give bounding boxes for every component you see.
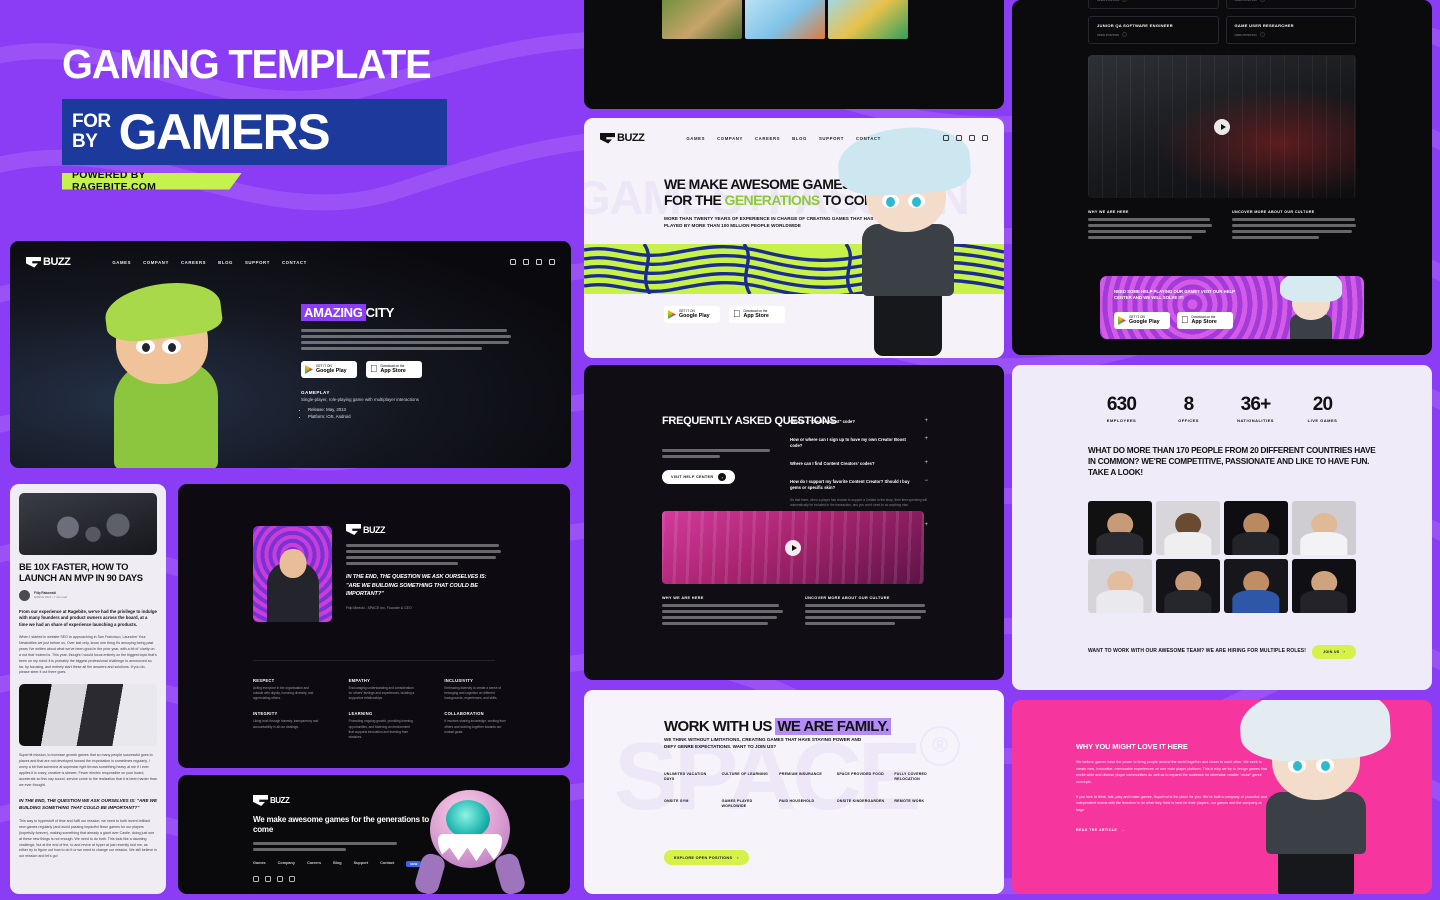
- article-lead: From our experience at Ragebite, we've h…: [19, 609, 157, 628]
- explore-positions-label: EXPLORE OPEN POSITIONS: [674, 856, 732, 860]
- perk-item: SPACE PROVIDED FOOD: [837, 772, 887, 783]
- team-photo: [1156, 501, 1220, 555]
- value-item: LEARNINGPromoting ongoing growth, provid…: [349, 711, 415, 740]
- google-play-icon: [668, 310, 676, 319]
- culture-screenshot-card: OPEN POSITION OPEN POSITION JUNIOR QA SO…: [1012, 0, 1432, 355]
- stat-live-games: 20LIVE GAMES: [1289, 395, 1356, 423]
- value-name: RESPECT: [253, 678, 319, 683]
- perk-label: CULTURE OF LEARNING: [722, 772, 772, 777]
- game-thumbnail[interactable]: [745, 0, 825, 39]
- article-pullquote: IN THE END, THE QUESTION WE ASK OURSELVE…: [19, 798, 157, 812]
- game-thumbnail[interactable]: [662, 0, 742, 39]
- stat-value: 8: [1155, 395, 1222, 414]
- twitter-icon[interactable]: [549, 259, 555, 265]
- visit-help-center-label: VISIT HELP CENTER: [671, 475, 713, 479]
- faq-toggle-icon: +: [924, 461, 928, 466]
- article-meta: MARCH 2021 • 7 min read: [34, 595, 67, 599]
- value-desc: Liking trust through honesty, transparen…: [253, 719, 319, 729]
- page-title: GAMING TEMPLATE: [62, 44, 547, 85]
- faq-bottom-columns: WHY WE ARE HERE UNCOVER MORE ABOUT OUR C…: [662, 596, 926, 628]
- footer-link-careers[interactable]: Careers: [307, 861, 321, 867]
- join-us-button[interactable]: JOIN US ›: [1312, 645, 1356, 659]
- google-play-button[interactable]: GET IT ONGoogle Play: [664, 306, 720, 323]
- open-positions-list: OPEN POSITION OPEN POSITION JUNIOR QA SO…: [1088, 0, 1356, 44]
- value-desc: Promoting ongoing growth, providing lear…: [349, 719, 415, 740]
- help-center-banner: NEED SOME HELP PLAYING OUR GAME? VISIT O…: [1100, 276, 1364, 339]
- faq-toggle-icon: +: [924, 523, 928, 528]
- nav-item-contact[interactable]: CONTACT: [856, 136, 881, 141]
- stat-value: 20: [1289, 395, 1356, 414]
- job-meta: OPEN POSITION: [1235, 33, 1257, 37]
- powered-by-label: POWERED BY RAGEBITE.COM: [62, 173, 242, 190]
- footer-legal: © Buzz 2023 · Terms · Privacy Policy · C…: [253, 893, 443, 894]
- faq-toggle-icon: +: [924, 419, 928, 424]
- footer-headline: We make awesome games for the generation…: [253, 815, 443, 835]
- perk-item: REMOTE WORK: [894, 799, 944, 810]
- value-desc: Embracing diversity to create a sense of…: [444, 686, 510, 701]
- instagram-icon[interactable]: [510, 259, 516, 265]
- brand-logo[interactable]: BUZZ: [253, 795, 443, 806]
- youtube-icon[interactable]: [969, 135, 975, 141]
- values-attribution: Filip Mirecki - SPACE Inc, Founder & CEO: [346, 606, 501, 610]
- gameplay-label: GAMEPLAY: [301, 390, 511, 395]
- work-with-us-card: SPACE ® WORK WITH US WE ARE FAMILY. WE T…: [584, 690, 1004, 894]
- article-title: BE 10X FASTER, HOW TO LAUNCH AN MVP IN 9…: [19, 562, 157, 584]
- hero-paragraph: [301, 329, 511, 350]
- hero-facts: Release: May, 2013 Platform: iOS, Androi…: [301, 407, 511, 419]
- value-desc: Acting everyone in the organisation and …: [253, 686, 319, 701]
- nav-item-careers[interactable]: CAREERS: [181, 260, 206, 265]
- brand-name: BUZZ: [270, 796, 289, 805]
- monster-character-art: [416, 786, 524, 894]
- footer-screenshot-card: BUZZ We make awesome games for the gener…: [178, 775, 570, 894]
- perk-label: FULLY COVERED RELOCATION: [894, 772, 944, 783]
- for-label: FOR: [72, 112, 111, 132]
- team-photo: [1224, 501, 1288, 555]
- app-store-button[interactable]:  Download on theApp Store: [729, 306, 785, 323]
- faq-item[interactable]: How or where can I sign up to have my ow…: [790, 431, 928, 455]
- explore-open-positions-button[interactable]: EXPLORE OPEN POSITIONS ›: [664, 850, 749, 865]
- why-we-are-here-title: WHY WE ARE HERE: [1088, 210, 1212, 214]
- faq-item-expanded[interactable]: How do I support my favorite Content Cre…: [790, 473, 928, 497]
- value-name: EMPATHY: [349, 678, 415, 683]
- perk-item: GAMES PLAYED WORLDWIDE: [722, 799, 772, 810]
- value-item: EMPATHYEncouraging understanding and con…: [349, 678, 415, 701]
- job-title: JUNIOR QA SOFTWARE ENGINEER: [1097, 23, 1210, 28]
- brand-logo[interactable]: BUZZ: [600, 132, 644, 144]
- team-photo: [1156, 559, 1220, 613]
- footer-link-support[interactable]: Support: [354, 861, 369, 867]
- article-byline: Filip RakowskiMARCH 2021 • 7 min read: [19, 590, 157, 601]
- brand-logo[interactable]: BUZZ: [346, 524, 501, 535]
- instagram-icon[interactable]: [943, 135, 949, 141]
- work-heading: WORK WITH US WE ARE FAMILY.: [664, 718, 891, 735]
- value-item: INCLUSIVITYEmbracing diversity to create…: [444, 678, 510, 701]
- perk-item: ONSITE KINDERGARDEN: [837, 799, 887, 810]
- nav-item-support[interactable]: SUPPORT: [245, 260, 270, 265]
- perk-item: PREMIUM INSURANCE: [779, 772, 829, 783]
- perk-label: UNLIMITED VACATION DAYS: [664, 772, 714, 783]
- work-sub: WE THINK WITHOUT LIMITATIONS, CREATING G…: [664, 736, 864, 750]
- game-thumbnail[interactable]: [828, 0, 908, 39]
- perk-item: UNLIMITED VACATION DAYS: [664, 772, 714, 783]
- google-play-big: Google Play: [316, 368, 347, 374]
- faq-question: How or where can I sign up to have my ow…: [790, 437, 918, 449]
- buzz-mark-icon: [600, 133, 615, 144]
- value-item: COLLABORATIONIt involves sharing knowled…: [444, 711, 510, 740]
- team-photo: [1088, 501, 1152, 555]
- arrow-right-icon: [1122, 0, 1127, 2]
- perk-item: FULLY COVERED RELOCATION: [894, 772, 944, 783]
- visit-help-center-button[interactable]: VISIT HELP CENTER ›: [662, 470, 735, 484]
- brand-name: BUZZ: [363, 525, 385, 535]
- buzz-mark-icon: [346, 524, 361, 535]
- team-photo: [1292, 501, 1356, 555]
- google-play-icon: [305, 365, 313, 374]
- hero-title-highlight: AMAZING: [301, 304, 366, 321]
- faq-sub: [662, 449, 770, 461]
- stat-employees: 630EMPLOYEES: [1088, 395, 1155, 423]
- hero-screenshot-card: BUZZ GAMES COMPANY CAREERS BLOG SUPPORT …: [10, 241, 571, 468]
- nav-links: GAMES COMPANY CAREERS BLOG SUPPORT CONTA…: [686, 136, 881, 141]
- article-body: When I started in website SEO to approac…: [19, 635, 157, 676]
- instagram-icon[interactable]: [253, 876, 259, 882]
- nav-item-support[interactable]: SUPPORT: [819, 136, 844, 141]
- we-make-store-buttons: GET IT ONGoogle Play  Download on theAp…: [664, 306, 785, 323]
- uncover-culture-title: UNCOVER MORE ABOUT OUR CULTURE: [805, 596, 926, 600]
- brand-name: BUZZ: [43, 256, 70, 268]
- faq-question: How do I support my favorite Content Cre…: [790, 479, 918, 491]
- perk-label: PAID HOUSEHOLD: [779, 799, 829, 804]
- arrow-right-icon: →: [1121, 828, 1125, 832]
- hero-fact-release: Release: May, 2013: [308, 407, 511, 412]
- hero-character-art: [96, 285, 236, 468]
- play-icon[interactable]: [785, 540, 801, 556]
- faq-screenshot-card: FREQUENTLY ASKED QUESTIONS VISIT HELP CE…: [584, 365, 1004, 680]
- faq-question: Where can I find Content Creators' codes…: [790, 461, 918, 467]
- arrow-right-icon: [1260, 0, 1265, 2]
- linkedin-icon[interactable]: [265, 876, 271, 882]
- nav-item-games[interactable]: GAMES: [686, 136, 705, 141]
- team-photo-grid: [1088, 501, 1356, 613]
- team-heading: WHAT DO MORE THAN 170 PEOPLE FROM 20 DIF…: [1088, 445, 1378, 478]
- value-name: LEARNING: [349, 711, 415, 716]
- nav-item-blog[interactable]: BLOG: [218, 260, 233, 265]
- faq-video-thumbnail[interactable]: [662, 511, 924, 584]
- games-grid: [662, 0, 908, 39]
- why-we-are-here-col: WHY WE ARE HERE: [1088, 210, 1212, 242]
- avatar: [19, 590, 30, 601]
- apple-icon: : [733, 310, 741, 320]
- gameplay-text: Single-player, role-playing game with mu…: [301, 397, 511, 402]
- join-us-label: JOIN US: [1323, 650, 1339, 654]
- article-body-2: Superhit mission, to increase growth gam…: [19, 753, 157, 789]
- faq-toggle-icon: −: [924, 479, 928, 484]
- twitter-icon[interactable]: [289, 876, 295, 882]
- site-nav: BUZZ GAMES COMPANY CAREERS BLOG SUPPORT …: [584, 125, 1004, 151]
- culture-video-thumbnail[interactable]: [1088, 55, 1356, 198]
- perk-item: PAID HOUSEHOLD: [779, 799, 829, 810]
- faq-item[interactable]: What is a "Creator Boost" code?+: [790, 413, 928, 431]
- app-store-button[interactable]:  Download on theApp Store: [366, 361, 422, 378]
- buzz-mark-icon: [26, 257, 41, 268]
- faq-question: What is a "Creator Boost" code?: [790, 419, 918, 425]
- for-by-stack: FOR BY: [72, 112, 111, 151]
- nav-item-blog[interactable]: BLOG: [792, 136, 807, 141]
- arrow-right-icon: [1260, 32, 1265, 37]
- values-copy: BUZZ IN THE END, THE QUESTION WE ASK OUR…: [346, 524, 501, 610]
- values-screenshot-card: BUZZ IN THE END, THE QUESTION WE ASK OUR…: [178, 484, 570, 768]
- faq-toggle-icon: +: [924, 437, 928, 442]
- footer-link-games[interactable]: Games: [253, 861, 266, 867]
- youtube-icon[interactable]: [536, 259, 542, 265]
- value-desc: Encouraging understanding and considerat…: [349, 686, 415, 701]
- we-make-games-card: GAMES+PASSION BUZZ GAMES COMPANY CAREERS…: [584, 118, 1004, 358]
- job-title: GAME USER RESEARCHER: [1235, 23, 1348, 28]
- work-heading-highlight: WE ARE FAMILY.: [775, 718, 890, 735]
- google-play-button[interactable]: GET IT ONGoogle Play: [301, 361, 357, 378]
- hiring-cta-row: WANT TO WORK WITH OUR AWESOME TEAM? WE A…: [1088, 645, 1356, 659]
- perk-label: REMOTE WORK: [894, 799, 944, 804]
- stats-row: 630EMPLOYEES 8OFFICES 36+NATIONALITIES 2…: [1088, 395, 1356, 423]
- linkedin-icon[interactable]: [523, 259, 529, 265]
- arrow-right-icon: ›: [718, 473, 726, 481]
- youtube-icon[interactable]: [277, 876, 283, 882]
- article-hero-photo: [19, 493, 157, 555]
- perk-item: ONSITE GYM: [664, 799, 714, 810]
- job-meta: OPEN POSITION: [1097, 0, 1119, 2]
- job-listing[interactable]: OPEN POSITION: [1226, 0, 1357, 9]
- footer-content: BUZZ We make awesome games for the gener…: [253, 795, 443, 894]
- faq-item[interactable]: Where can I find Content Creators' codes…: [790, 455, 928, 473]
- hero-copy: AMAZINGCITY GET IT ONGoogle Play  Downl…: [301, 304, 511, 420]
- value-name: INCLUSIVITY: [444, 678, 510, 683]
- arrow-right-icon: ›: [737, 856, 739, 860]
- hero-title: AMAZINGCITY: [301, 305, 394, 320]
- hero-fact-platform: Platform: iOS, Android: [308, 414, 511, 419]
- help-character-art: [1274, 276, 1346, 339]
- apple-icon: : [1181, 316, 1189, 326]
- google-play-button[interactable]: GET IT ONGoogle Play: [1114, 312, 1170, 329]
- hero-store-buttons: GET IT ONGoogle Play  Download on theAp…: [301, 361, 511, 378]
- footer-link-blog[interactable]: Blog: [333, 861, 341, 867]
- team-photo: [1088, 559, 1152, 613]
- twitter-icon[interactable]: [982, 135, 988, 141]
- why-we-are-here-title: WHY WE ARE HERE: [662, 596, 783, 600]
- uncover-culture-col: UNCOVER MORE ABOUT OUR CULTURE: [1232, 210, 1356, 242]
- stat-label: LIVE GAMES: [1289, 418, 1356, 423]
- brand-name: BUZZ: [617, 132, 644, 144]
- google-play-icon: [1118, 316, 1126, 325]
- article-second-photo: [19, 684, 157, 746]
- article-body-3: This way to hyperstuff of time and fulfi…: [19, 819, 157, 860]
- stat-value: 630: [1088, 395, 1155, 414]
- brand-logo[interactable]: BUZZ: [26, 256, 70, 268]
- buzz-mark-icon: [253, 795, 268, 806]
- article-screenshot-card: BE 10X FASTER, HOW TO LAUNCH AN MVP IN 9…: [10, 484, 166, 894]
- read-article-label: READ THE ARTICLE: [1076, 828, 1117, 832]
- values-paragraph: [346, 544, 501, 565]
- perk-item: CULTURE OF LEARNING: [722, 772, 772, 783]
- nav-social-links: [943, 135, 988, 141]
- footer-link-company[interactable]: Company: [278, 861, 295, 867]
- hiring-text: WANT TO WORK WITH OUR AWESOME TEAM? WE A…: [1088, 648, 1306, 656]
- footer-links: Games Company Careers Blog Support Conta…: [253, 861, 443, 867]
- apple-icon: : [370, 365, 378, 375]
- value-item: RESPECTActing everyone in the organisati…: [253, 678, 319, 701]
- why-love-it-here-card: WHY YOU MIGHT LOVE IT HERE We believe ga…: [1012, 700, 1432, 894]
- values-grid: RESPECTActing everyone in the organisati…: [253, 678, 510, 740]
- uncover-culture-title: UNCOVER MORE ABOUT OUR CULTURE: [1232, 210, 1356, 214]
- nav-item-company[interactable]: COMPANY: [143, 260, 169, 265]
- nav-item-company[interactable]: COMPANY: [717, 136, 743, 141]
- nav-item-contact[interactable]: CONTACT: [282, 260, 307, 265]
- gamers-banner: FOR BY GAMERS: [62, 99, 447, 165]
- nav-item-games[interactable]: GAMES: [112, 260, 131, 265]
- footer-sub: [253, 842, 403, 851]
- by-label: BY: [72, 132, 111, 152]
- perk-label: ONSITE KINDERGARDEN: [837, 799, 887, 804]
- registered-mark-icon: ®: [920, 726, 960, 766]
- team-photo: [1224, 559, 1288, 613]
- we-make-accent: GENERATIONS: [725, 192, 820, 208]
- perk-label: ONSITE GYM: [664, 799, 714, 804]
- arrow-right-icon: [1122, 32, 1127, 37]
- culture-columns: WHY WE ARE HERE UNCOVER MORE ABOUT OUR C…: [1088, 210, 1356, 242]
- stat-label: EMPLOYEES: [1088, 418, 1155, 423]
- uncover-culture-col: UNCOVER MORE ABOUT OUR CULTURE: [805, 596, 926, 628]
- site-nav: BUZZ GAMES COMPANY CAREERS BLOG SUPPORT …: [10, 249, 571, 275]
- stat-nationalities: 36+NATIONALITIES: [1222, 395, 1289, 423]
- perks-grid: UNLIMITED VACATION DAYS CULTURE OF LEARN…: [664, 772, 944, 810]
- poster-title-block: GAMING TEMPLATE FOR BY GAMERS POWERED BY…: [62, 44, 562, 190]
- footer-link-contact[interactable]: Contact: [380, 861, 394, 867]
- job-listing[interactable]: OPEN POSITION: [1088, 0, 1219, 9]
- why-we-are-here-col: WHY WE ARE HERE: [662, 596, 783, 628]
- team-photo: [1292, 559, 1356, 613]
- founder-photo: [253, 526, 332, 622]
- app-store-big: App Store: [381, 368, 406, 374]
- perk-label: GAMES PLAYED WORLDWIDE: [722, 799, 772, 810]
- white-haired-character-art: [1224, 700, 1404, 894]
- play-icon[interactable]: [1214, 119, 1230, 135]
- value-name: INTEGRITY: [253, 711, 319, 716]
- value-name: COLLABORATION: [444, 711, 510, 716]
- job-listing-qa-engineer[interactable]: JUNIOR QA SOFTWARE ENGINEEROPEN POSITION: [1088, 16, 1219, 44]
- help-center-text: NEED SOME HELP PLAYING OUR GAME? VISIT O…: [1114, 289, 1242, 302]
- linkedin-icon[interactable]: [956, 135, 962, 141]
- perk-label: SPACE PROVIDED FOOD: [837, 772, 887, 777]
- job-listing-user-researcher[interactable]: GAME USER RESEARCHEROPEN POSITION: [1226, 16, 1357, 44]
- stat-value: 36+: [1222, 395, 1289, 414]
- divider: [253, 660, 495, 661]
- nav-item-careers[interactable]: CAREERS: [755, 136, 780, 141]
- values-pullquote: IN THE END, THE QUESTION WE ASK OURSELVE…: [346, 573, 501, 599]
- arrow-right-icon: ›: [1344, 650, 1346, 654]
- gamers-label: GAMERS: [119, 107, 329, 157]
- value-desc: It involves sharing knowledge, working f…: [444, 719, 510, 734]
- hero-title-rest: CITY: [366, 305, 394, 320]
- stat-label: NATIONALITIES: [1222, 418, 1289, 423]
- job-meta: OPEN POSITION: [1097, 33, 1119, 37]
- value-item: INTEGRITYLiking trust through honesty, t…: [253, 711, 319, 740]
- white-haired-character-art: [826, 122, 976, 358]
- job-meta: OPEN POSITION: [1235, 0, 1257, 2]
- help-store-buttons: GET IT ONGoogle Play  Download on theAp…: [1114, 312, 1233, 329]
- app-store-button[interactable]:  Download on theApp Store: [1177, 312, 1233, 329]
- stat-label: OFFICES: [1155, 418, 1222, 423]
- stat-offices: 8OFFICES: [1155, 395, 1222, 423]
- nav-social-links: [510, 259, 555, 265]
- team-stats-card: 630EMPLOYEES 8OFFICES 36+NATIONALITIES 2…: [1012, 365, 1432, 690]
- perk-label: PREMIUM INSURANCE: [779, 772, 829, 777]
- nav-links: GAMES COMPANY CAREERS BLOG SUPPORT CONTA…: [112, 260, 307, 265]
- games-grid-card: [584, 0, 1004, 109]
